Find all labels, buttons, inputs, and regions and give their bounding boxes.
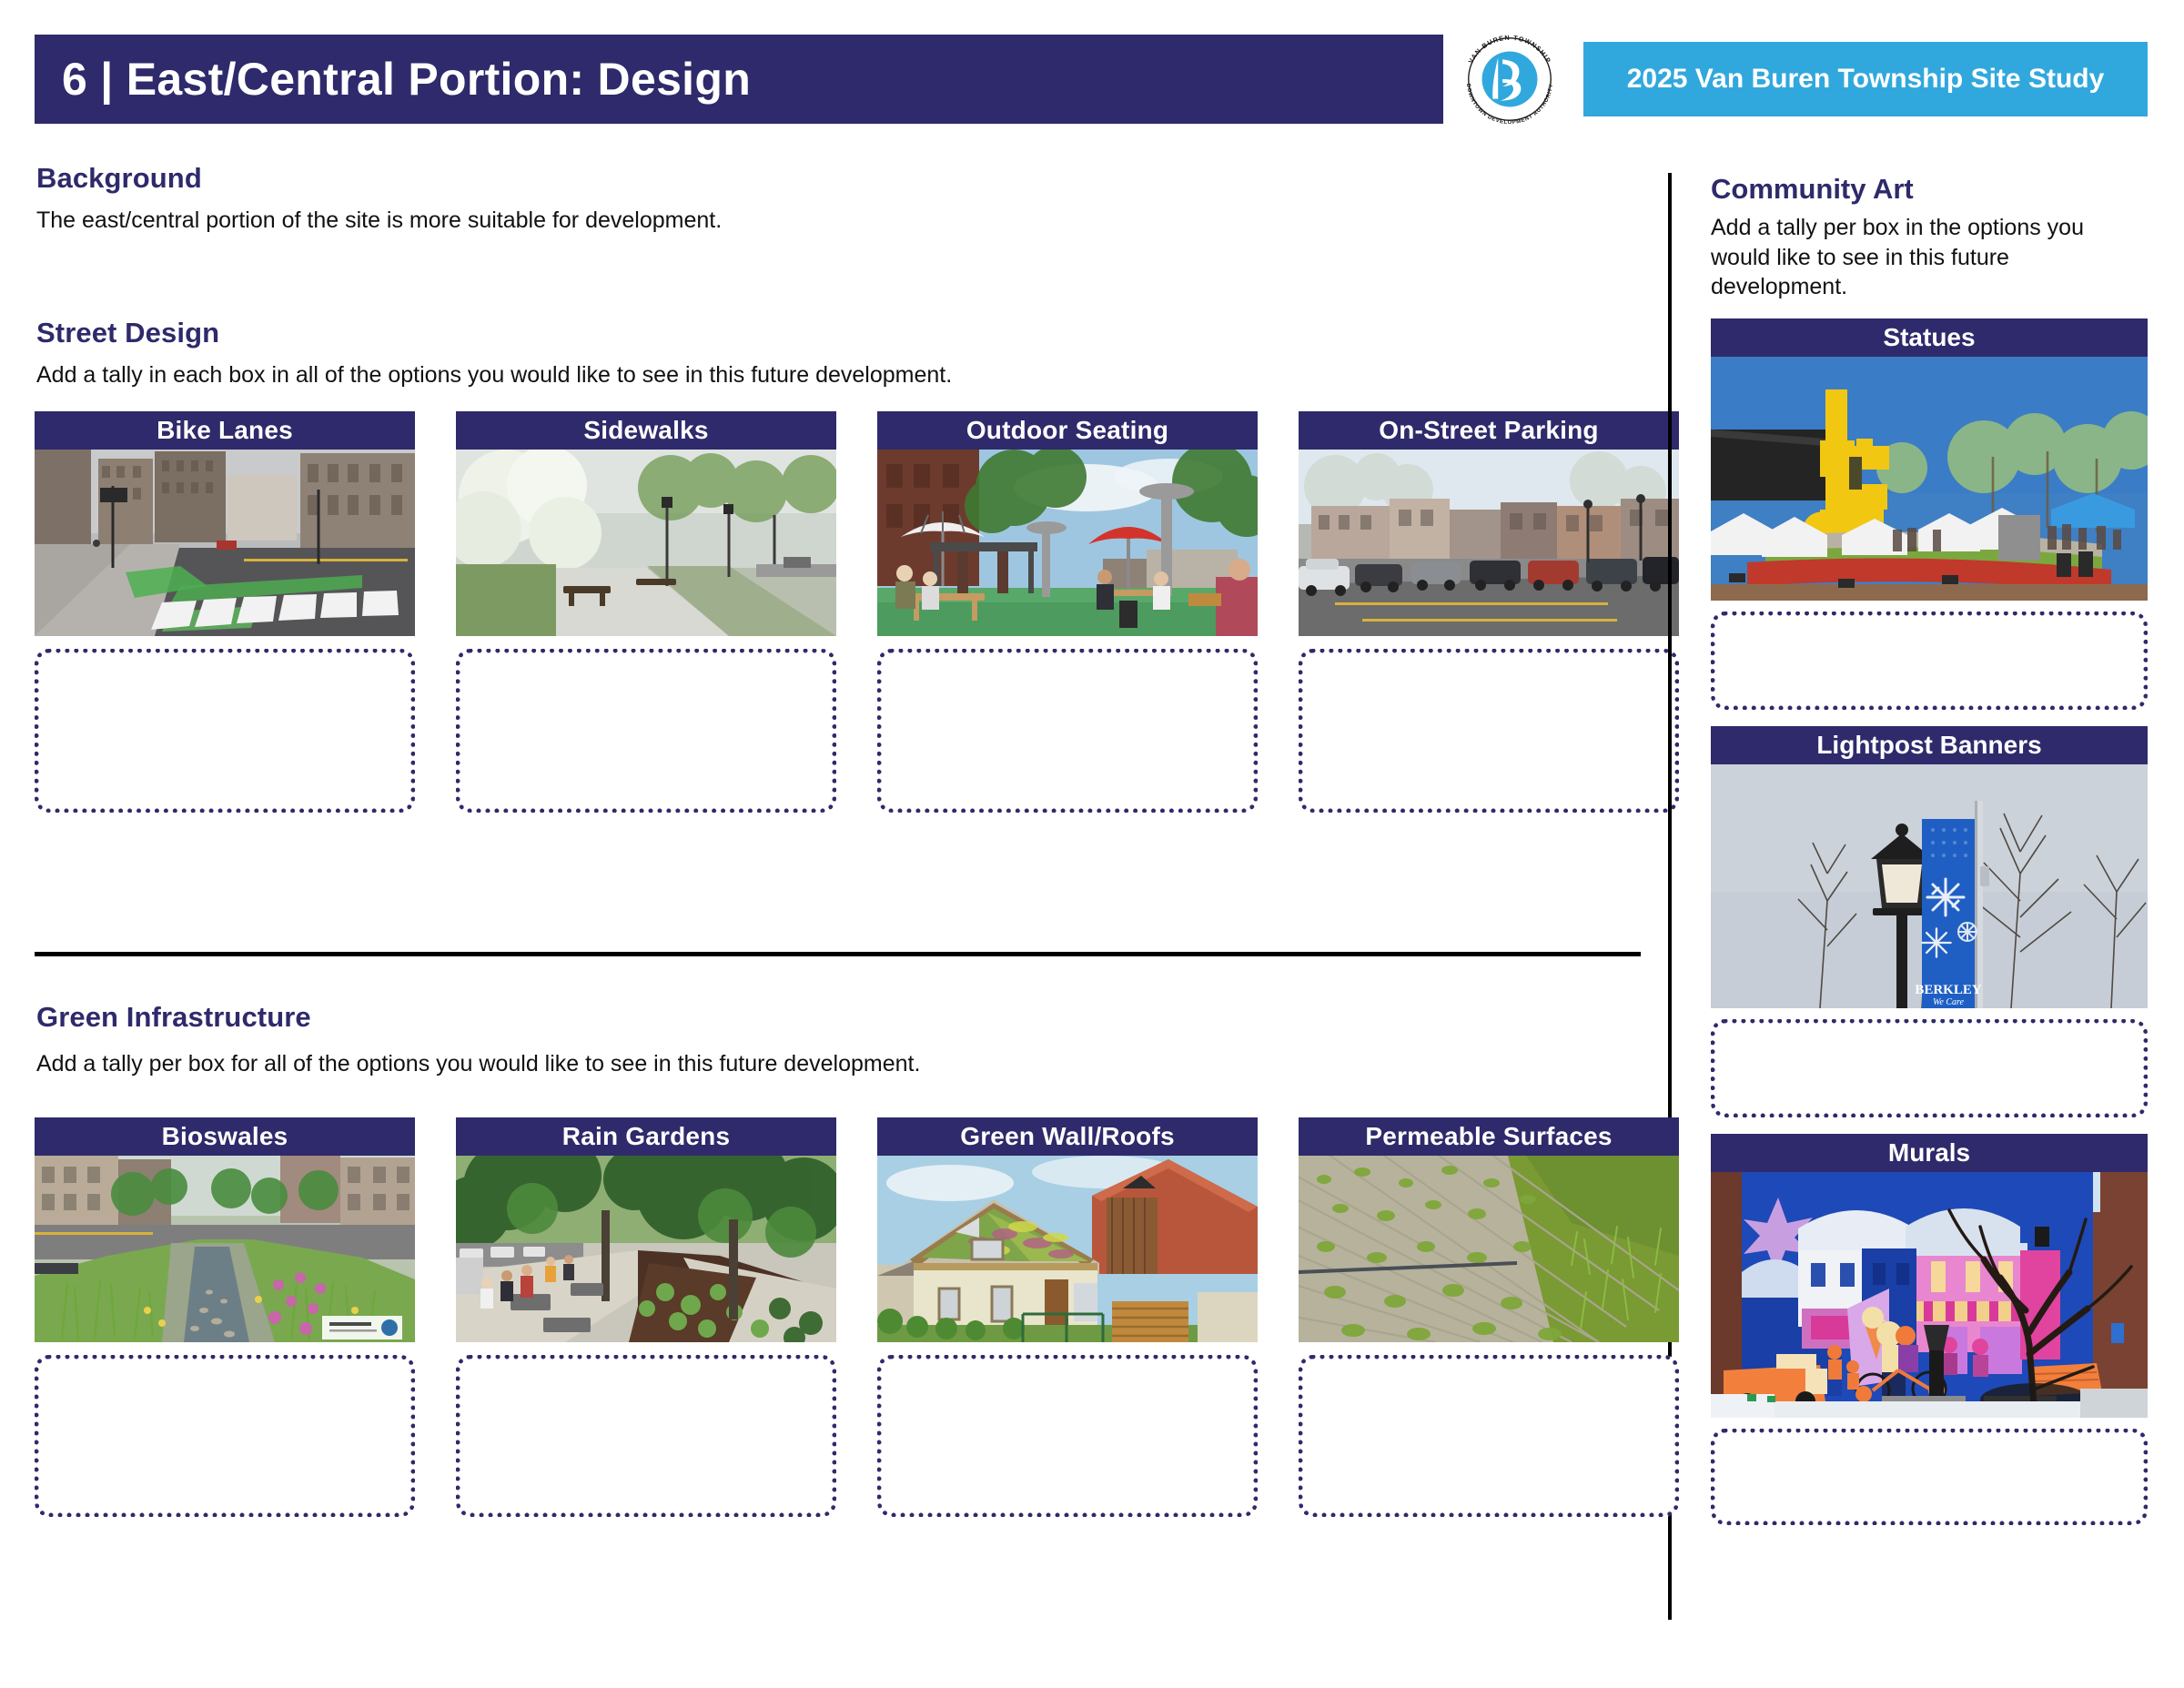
option-label: Bioswales [35, 1117, 415, 1156]
statues-photo [1711, 357, 2148, 601]
option-card-on-street-parking: On-Street Parking [1299, 411, 1679, 813]
murals-photo [1711, 1172, 2148, 1418]
page-title: 6 | East/Central Portion: Design [35, 53, 751, 106]
svg-text:We Care: We Care [1933, 997, 1965, 1007]
tally-box-lightpost-banners[interactable] [1711, 1019, 2148, 1117]
svg-text:BERKLEY: BERKLEY [1915, 983, 1982, 997]
tally-box-green-wall-roofs[interactable] [877, 1355, 1258, 1517]
bioswales-photo [35, 1156, 415, 1342]
option-label: On-Street Parking [1299, 411, 1679, 450]
study-title: 2025 Van Buren Township Site Study [1627, 64, 2105, 95]
option-label: Sidewalks [456, 411, 836, 450]
option-card-bioswales: Bioswales [35, 1117, 415, 1517]
option-card-bike-lanes: Bike Lanes [35, 411, 415, 813]
tally-box-bioswales[interactable] [35, 1355, 415, 1517]
community-art-sidebar: Community Art Add a tally per box in the… [1711, 173, 2148, 1525]
outdoor-seating-photo [877, 450, 1258, 636]
page-header: 6 | East/Central Portion: Design VAN BUR… [0, 35, 2184, 124]
green-infrastructure-heading: Green Infrastructure [36, 1001, 311, 1034]
option-card-sidewalks: Sidewalks [456, 411, 836, 813]
option-card-statues: Statues [1711, 318, 2148, 710]
tally-box-outdoor-seating[interactable] [877, 649, 1258, 813]
tally-box-on-street-parking[interactable] [1299, 649, 1679, 813]
header-title-bar: 6 | East/Central Portion: Design [35, 35, 1443, 124]
option-label: Statues [1711, 318, 2148, 357]
street-design-instruction: Add a tally in each box in all of the op… [36, 362, 952, 389]
background-heading: Background [36, 162, 202, 195]
option-card-rain-gardens: Rain Gardens [456, 1117, 836, 1517]
option-card-permeable-surfaces: Permeable Surfaces [1299, 1117, 1679, 1517]
option-label: Outdoor Seating [877, 411, 1258, 450]
option-label: Bike Lanes [35, 411, 415, 450]
tally-box-sidewalks[interactable] [456, 649, 836, 813]
header-subtitle-bar: 2025 Van Buren Township Site Study [1583, 42, 2148, 116]
tally-box-bike-lanes[interactable] [35, 649, 415, 813]
option-label: Permeable Surfaces [1299, 1117, 1679, 1156]
tally-box-permeable-surfaces[interactable] [1299, 1355, 1679, 1517]
green-wall-roofs-photo [877, 1156, 1258, 1342]
option-card-outdoor-seating: Outdoor Seating [877, 411, 1258, 813]
community-art-instruction: Add a tally per box in the options you w… [1711, 213, 2111, 302]
bike-lanes-photo [35, 450, 415, 636]
option-label: Lightpost Banners [1711, 726, 2148, 764]
background-text: The east/central portion of the site is … [36, 207, 722, 234]
option-card-green-wall-roofs: Green Wall/Roofs [877, 1117, 1258, 1517]
permeable-surfaces-photo [1299, 1156, 1679, 1342]
community-art-heading: Community Art [1711, 173, 2148, 206]
street-design-options: Bike Lanes [35, 411, 1679, 813]
worksheet-page: 6 | East/Central Portion: Design VAN BUR… [0, 0, 2184, 1688]
option-label: Murals [1711, 1134, 2148, 1172]
tally-box-statues[interactable] [1711, 612, 2148, 710]
green-infrastructure-options: Bioswales [35, 1117, 1679, 1517]
option-card-murals: Murals [1711, 1134, 2148, 1525]
sidewalks-photo [456, 450, 836, 636]
tally-box-murals[interactable] [1711, 1429, 2148, 1525]
option-label: Green Wall/Roofs [877, 1117, 1258, 1156]
option-label: Rain Gardens [456, 1117, 836, 1156]
on-street-parking-photo [1299, 450, 1679, 636]
section-divider [35, 952, 1641, 956]
van-buren-township-dda-logo-icon: VAN BUREN TOWNSHIP DOWNTOWN DEVELOPMENT … [1456, 25, 1563, 133]
option-card-lightpost-banners: Lightpost Banners [1711, 726, 2148, 1117]
rain-gardens-photo [456, 1156, 836, 1342]
green-infrastructure-instruction: Add a tally per box for all of the optio… [36, 1051, 920, 1077]
lightpost-banners-photo: BERKLEY We Care [1711, 764, 2148, 1008]
tally-box-rain-gardens[interactable] [456, 1355, 836, 1517]
street-design-heading: Street Design [36, 317, 219, 349]
